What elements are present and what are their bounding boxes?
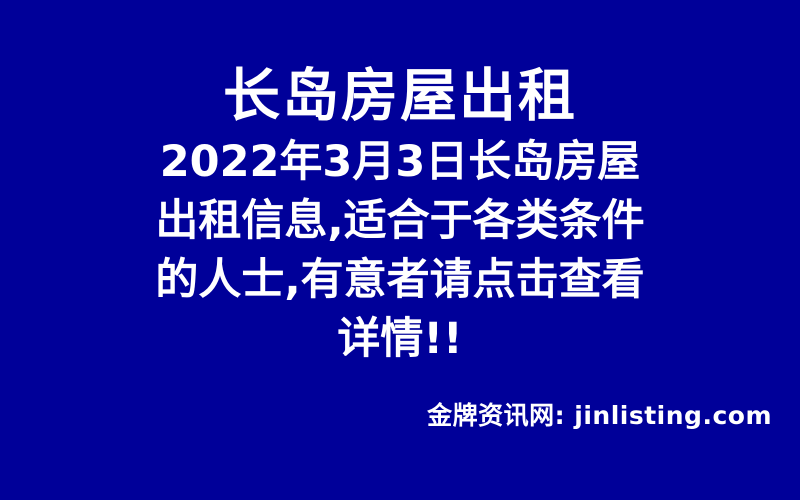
poster-body-text: 2022年3月3日长岛房屋 出租信息,适合于各类条件 的人士,有意者请点击查看 … <box>60 133 740 369</box>
site-credit-watermark: 金牌资讯网: jinlisting.com <box>427 400 772 432</box>
poster-footer-band: 金牌资讯网: jinlisting.com <box>0 400 772 432</box>
body-line: 2022年3月3日长岛房屋 <box>60 133 740 192</box>
body-line: 出租信息,适合于各类条件 <box>60 192 740 251</box>
rental-poster: 长岛房屋出租 2022年3月3日长岛房屋 出租信息,适合于各类条件 的人士,有意… <box>0 0 800 500</box>
page-title: 长岛房屋出租 <box>223 60 577 132</box>
body-line: 的人士,有意者请点击查看 <box>60 251 740 310</box>
body-line: 详情!! <box>60 310 740 369</box>
